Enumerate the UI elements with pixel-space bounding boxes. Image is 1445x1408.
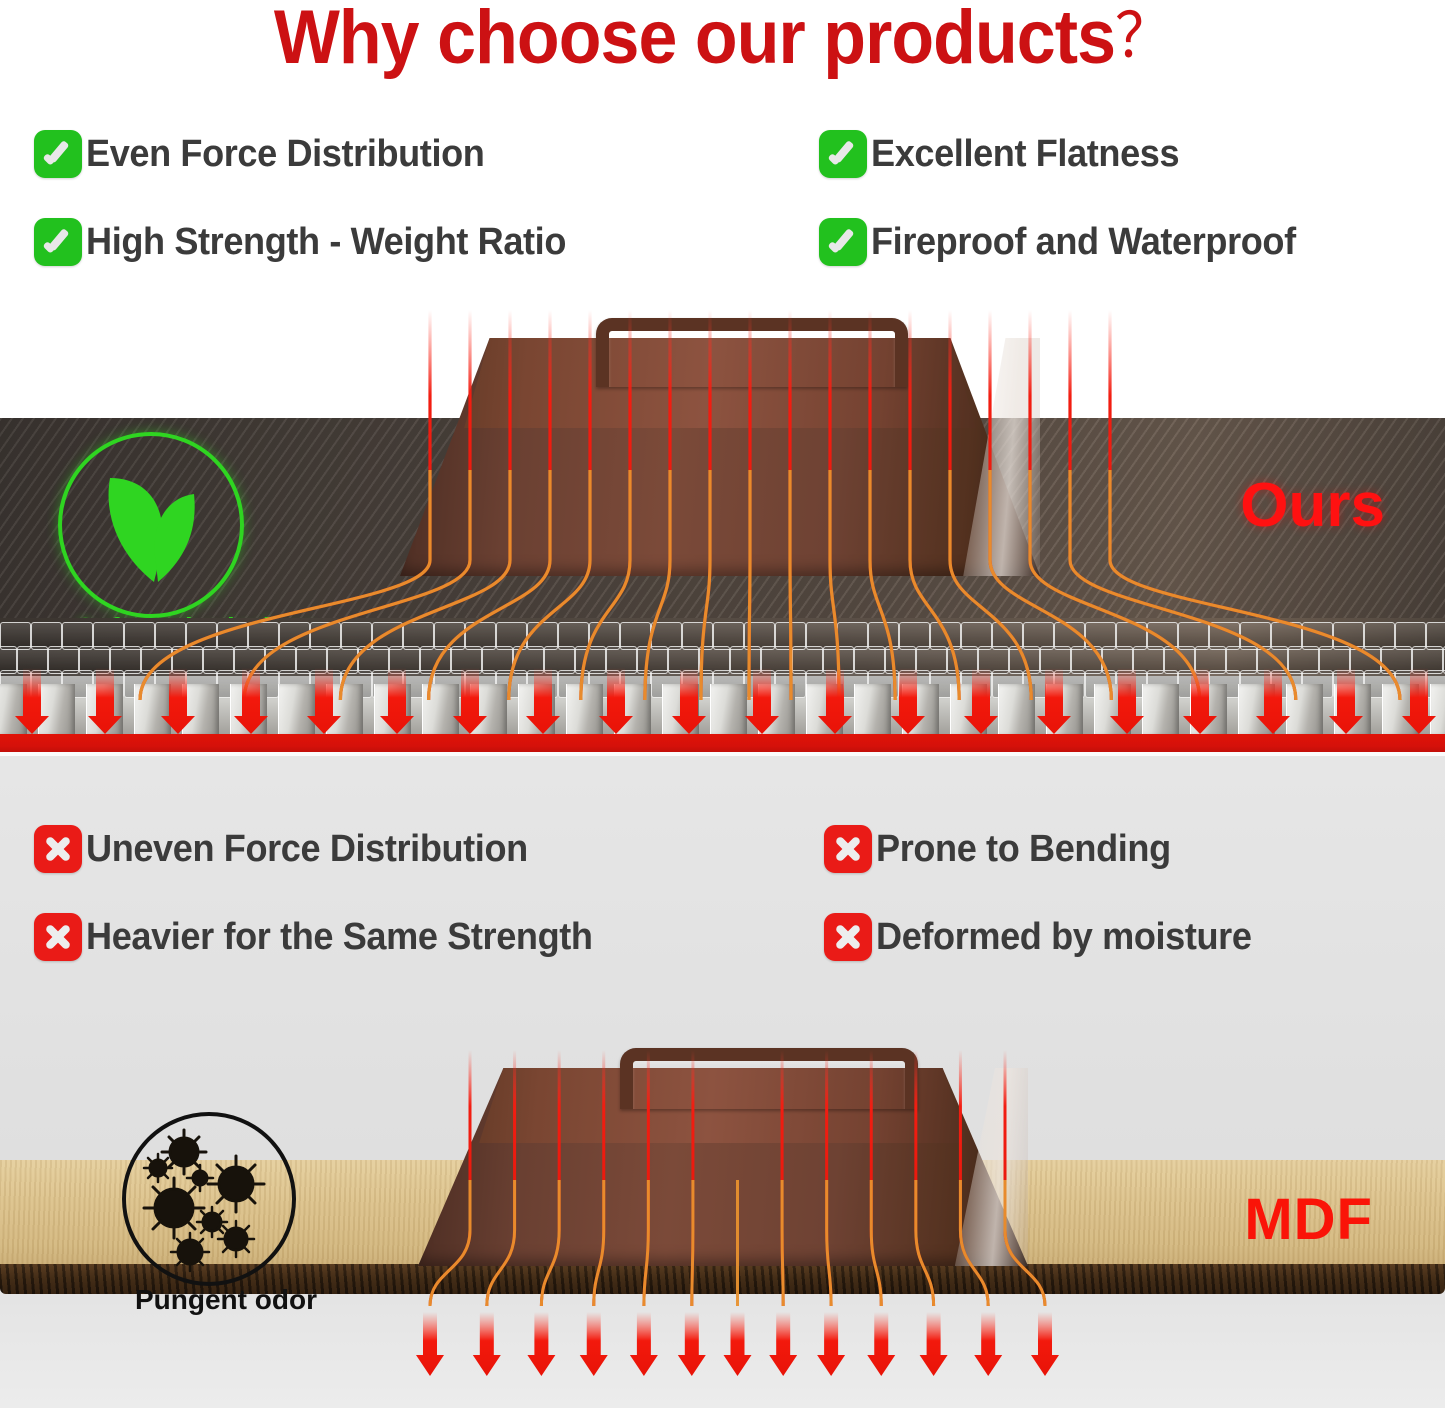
honeycomb-prism bbox=[278, 684, 315, 736]
honeycomb-prism bbox=[950, 684, 987, 736]
honeycomb-prism bbox=[230, 684, 267, 736]
pros-item-excellent-flatness: Excellent Flatness bbox=[819, 130, 1445, 178]
green-check-icon bbox=[34, 218, 82, 266]
germ-particles-icon bbox=[122, 1112, 296, 1286]
cons-item-label: Prone to Bending bbox=[876, 828, 1171, 871]
honeycomb-prism bbox=[1334, 684, 1371, 736]
red-x-icon bbox=[824, 913, 872, 961]
honeycomb-prism bbox=[1190, 684, 1227, 736]
honeycomb-prism bbox=[710, 684, 747, 736]
pros-item-even-force-distribution: Even Force Distribution bbox=[34, 130, 819, 178]
honeycomb-prism bbox=[854, 684, 891, 736]
honeycomb-prism bbox=[86, 684, 123, 736]
page-title: Why choose our products？ bbox=[58, 0, 1387, 78]
red-x-icon bbox=[34, 913, 82, 961]
honeycomb-prism bbox=[1238, 684, 1275, 736]
odor-badge-caption: Pungent odor bbox=[116, 1284, 336, 1316]
pros-item-label: Even Force Distribution bbox=[86, 133, 484, 176]
pros-feature-grid: Even Force Distribution Excellent Flatne… bbox=[34, 110, 1434, 286]
honeycomb-prism bbox=[422, 684, 459, 736]
cons-feature-grid: Uneven Force Distribution Prone to Bendi… bbox=[34, 805, 1434, 981]
red-x-icon bbox=[824, 825, 872, 873]
cons-item-uneven-force-distribution: Uneven Force Distribution bbox=[34, 825, 824, 873]
honeycomb-prism bbox=[518, 684, 555, 736]
honeycomb-prism bbox=[1094, 684, 1131, 736]
ours-label: Ours bbox=[1240, 470, 1385, 541]
pros-item-fireproof-and-waterproof: Fireproof and Waterproof bbox=[819, 218, 1445, 266]
honeycomb-prism bbox=[1430, 684, 1445, 736]
pros-item-label: High Strength - Weight Ratio bbox=[86, 221, 566, 264]
press-tool-handle bbox=[596, 318, 908, 387]
question-mark-glyph: ？ bbox=[1115, 2, 1171, 71]
honeycomb-prism bbox=[0, 684, 27, 736]
leaf-icon bbox=[58, 432, 244, 618]
press-tool-handle bbox=[620, 1048, 918, 1109]
honeycomb-prism bbox=[134, 684, 171, 736]
honeycomb-core bbox=[0, 618, 1445, 736]
cons-item-deformed-by-moisture: Deformed by moisture bbox=[824, 913, 1434, 961]
cons-item-heavier-for-same-strength: Heavier for the Same Strength bbox=[34, 913, 824, 961]
honeycomb-prism bbox=[902, 684, 939, 736]
mdf-label: MDF bbox=[1244, 1186, 1373, 1253]
honeycomb-prism bbox=[1046, 684, 1083, 736]
product-comparison-infographic: Why choose our products？ Even Force Dist… bbox=[0, 0, 1445, 1408]
green-check-icon bbox=[819, 218, 867, 266]
eco-safe-badge: Safe and odorless bbox=[58, 432, 244, 618]
pros-item-label: Excellent Flatness bbox=[871, 133, 1179, 176]
red-x-icon bbox=[34, 825, 82, 873]
pros-item-label: Fireproof and Waterproof bbox=[871, 221, 1296, 264]
honeycomb-prism bbox=[38, 684, 75, 736]
cons-item-label: Uneven Force Distribution bbox=[86, 828, 528, 871]
green-check-icon bbox=[34, 130, 82, 178]
honeycomb-prism bbox=[470, 684, 507, 736]
honeycomb-prism bbox=[1382, 684, 1419, 736]
honeycomb-prism bbox=[758, 684, 795, 736]
honeycomb-prism bbox=[374, 684, 411, 736]
honeycomb-prism bbox=[1286, 684, 1323, 736]
green-check-icon bbox=[819, 130, 867, 178]
pros-item-high-strength-weight-ratio: High Strength - Weight Ratio bbox=[34, 218, 819, 266]
honeycomb-prism bbox=[662, 684, 699, 736]
cons-item-prone-to-bending: Prone to Bending bbox=[824, 825, 1434, 873]
honeycomb-prism bbox=[614, 684, 651, 736]
honeycomb-prism bbox=[1142, 684, 1179, 736]
cons-item-label: Heavier for the Same Strength bbox=[86, 916, 593, 959]
cons-item-label: Deformed by moisture bbox=[876, 916, 1252, 959]
honeycomb-prism bbox=[326, 684, 363, 736]
honeycomb-prism bbox=[182, 684, 219, 736]
honeycomb-prism bbox=[806, 684, 843, 736]
honeycomb-prism bbox=[998, 684, 1035, 736]
page-title-text: Why choose our products bbox=[274, 0, 1115, 80]
pungent-odor-badge: Pungent odor bbox=[122, 1112, 296, 1286]
honeycomb-prism bbox=[566, 684, 603, 736]
